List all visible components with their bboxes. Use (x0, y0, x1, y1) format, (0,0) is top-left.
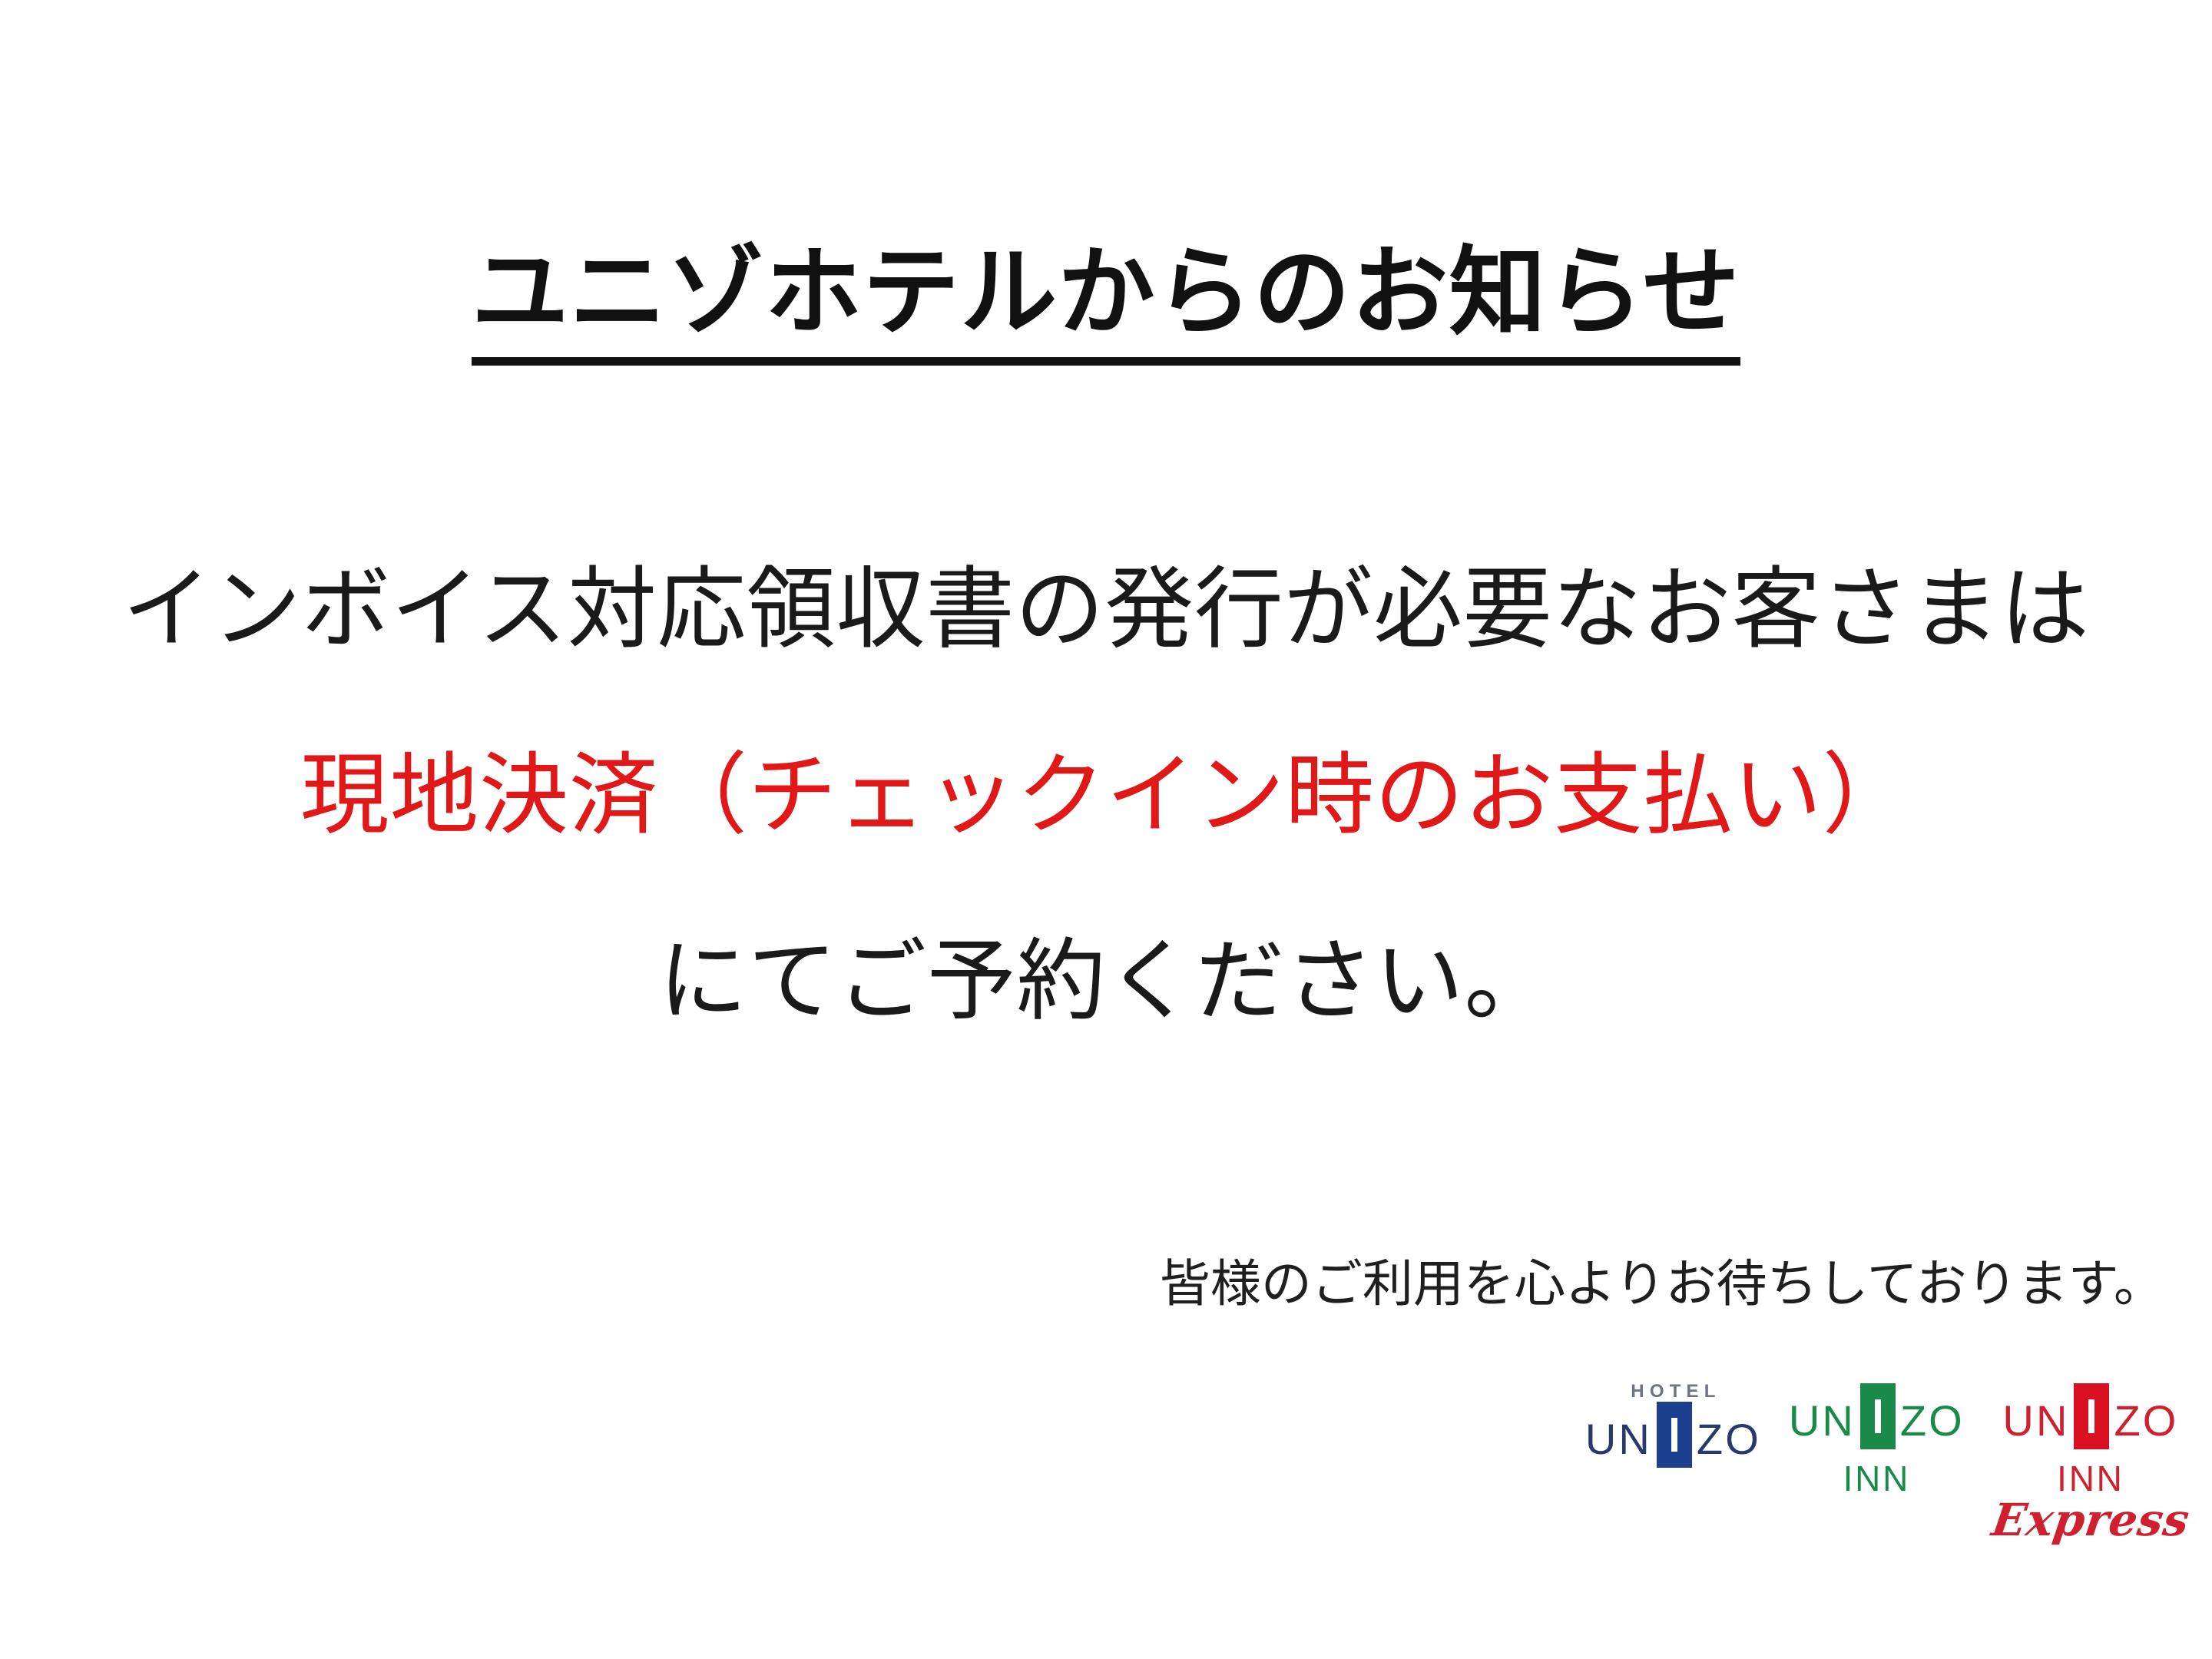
logo-word-before: UN (1789, 1399, 1856, 1442)
logo-hotel-unizo: HOTEL UN ZO (1585, 1382, 1761, 1472)
page-title: ユニゾホテルからのお知らせ (0, 238, 2212, 366)
logo-word-after: ZO (1697, 1418, 1761, 1461)
logo-word-before: UN (1585, 1418, 1652, 1461)
logo-unizo-inn: UN ZO INN (1789, 1382, 1965, 1496)
logo-word-after: ZO (1900, 1399, 1965, 1442)
logo-unizo-inn-express: UN ZO INN Express (1992, 1382, 2189, 1542)
notice-body: インボイス対応領収書の発行が必要なお客さまは 現地決済（チェックイン時のお支払い… (0, 565, 2212, 1025)
brand-logo-row: HOTEL UN ZO UN ZO INN UN ZO INN (1585, 1382, 2189, 1542)
logo-wordmark-hotel-unizo: UN ZO (1585, 1406, 1761, 1472)
logo-boxed-letter-icon (1657, 1402, 1692, 1468)
logo-sub-inn: INN (1843, 1461, 1911, 1496)
closing-message: 皆様のご利用を心よりお待ちしております。 (1160, 1258, 2164, 1309)
logo-eyebrow-hotel: HOTEL (1625, 1382, 1721, 1401)
logo-word-after: ZO (2114, 1399, 2178, 1442)
logo-sub-express: INN (2057, 1461, 2124, 1496)
logo-script-express: Express (1989, 1498, 2192, 1542)
logo-boxed-letter-icon (2074, 1383, 2109, 1449)
notice-page: ユニゾホテルからのお知らせ インボイス対応領収書の発行が必要なお客さまは 現地決… (0, 0, 2212, 1659)
body-line-3: にてご予約ください。 (0, 936, 2212, 1025)
page-title-text: ユニゾホテルからのお知らせ (472, 238, 1740, 366)
body-line-1: インボイス対応領収書の発行が必要なお客さまは (0, 565, 2212, 654)
body-line-2-highlight: 現地決済（チェックイン時のお支払い） (0, 750, 2212, 839)
logo-wordmark-unizo-inn-express: UN ZO (2002, 1388, 2178, 1454)
logo-word-before: UN (2002, 1399, 2069, 1442)
logo-wordmark-unizo-inn: UN ZO (1789, 1388, 1965, 1454)
logo-boxed-letter-icon (1860, 1383, 1896, 1449)
